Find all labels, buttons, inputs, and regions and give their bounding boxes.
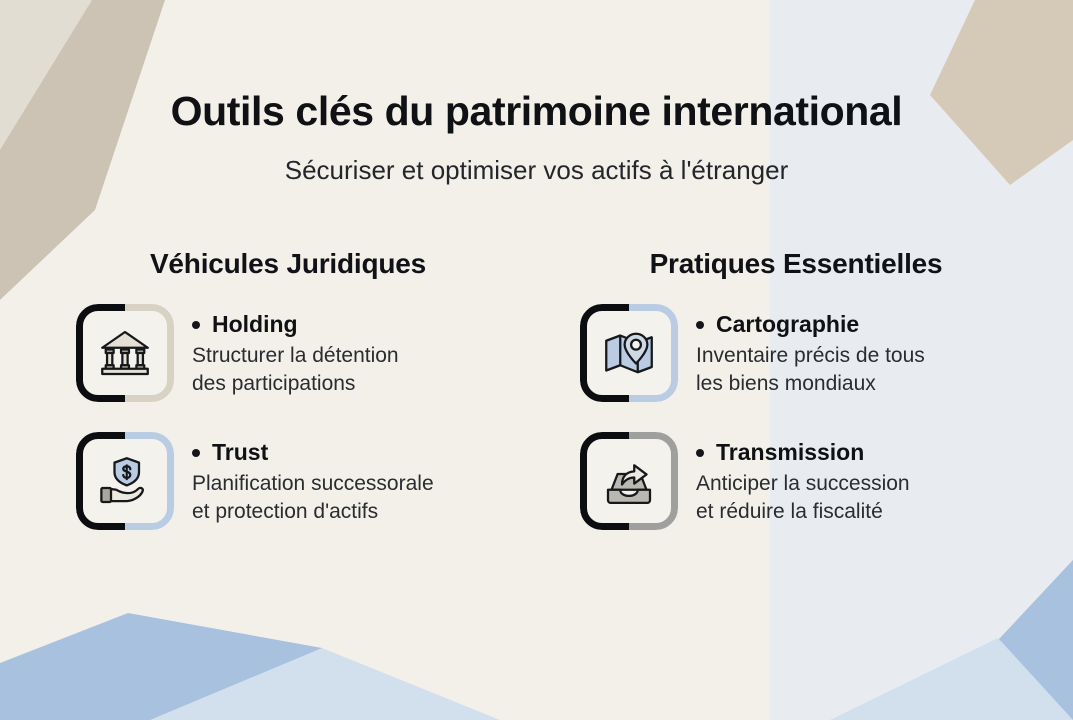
list-item-text: Holding Structurer la détention des part… <box>192 304 399 399</box>
list-item[interactable]: Transmission Anticiper la succession et … <box>566 432 1036 530</box>
outbox-share-arrow-icon <box>601 453 657 509</box>
list-item[interactable]: Cartographie Inventaire précis de tous l… <box>566 304 1036 402</box>
map-location-pin-icon <box>601 325 657 381</box>
icon-tile <box>76 304 174 402</box>
page-subtitle: Sécuriser et optimiser vos actifs à l'ét… <box>0 155 1073 186</box>
list-item-description: Inventaire précis de tous les biens mond… <box>696 342 925 399</box>
bank-icon <box>97 325 153 381</box>
list-item-description: Structurer la détention des participatio… <box>192 342 399 399</box>
list-item-description: Anticiper la succession et réduire la fi… <box>696 470 910 527</box>
column-pratiques-essentielles: Pratiques Essentielles Cartographie <box>566 248 1036 560</box>
column-heading: Véhicules Juridiques <box>62 248 532 280</box>
hand-holding-shield-dollar-icon <box>97 453 153 509</box>
column-heading: Pratiques Essentielles <box>566 248 1036 280</box>
list-item[interactable]: Trust Planification successorale et prot… <box>62 432 532 530</box>
list-item-title: Transmission <box>696 438 910 467</box>
icon-tile <box>580 432 678 530</box>
list-item[interactable]: Holding Structurer la détention des part… <box>62 304 532 402</box>
icon-tile <box>580 304 678 402</box>
page-title: Outils clés du patrimoine international <box>0 88 1073 135</box>
list-item-description: Planification successorale et protection… <box>192 470 434 527</box>
icon-tile <box>76 432 174 530</box>
list-item-title: Trust <box>192 438 434 467</box>
list-item-text: Cartographie Inventaire précis de tous l… <box>696 304 925 399</box>
column-vehicules-juridiques: Véhicules Juridiques <box>62 248 532 560</box>
infographic-stage: Outils clés du patrimoine international … <box>0 0 1073 720</box>
list-item-title: Cartographie <box>696 310 925 339</box>
list-item-text: Trust Planification successorale et prot… <box>192 432 434 527</box>
list-item-title: Holding <box>192 310 399 339</box>
list-item-text: Transmission Anticiper la succession et … <box>696 432 910 527</box>
